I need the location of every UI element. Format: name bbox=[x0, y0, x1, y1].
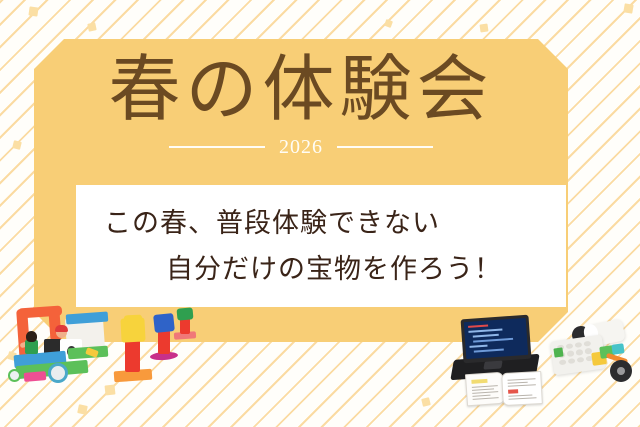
year-row: 2026 bbox=[34, 136, 568, 158]
tower-a-top-icon bbox=[120, 317, 145, 342]
tower-b-column-icon bbox=[158, 330, 170, 354]
year-label: 2026 bbox=[279, 136, 323, 158]
photo-lego-robot-car bbox=[548, 316, 640, 396]
minifigure2-cap-icon bbox=[55, 325, 68, 332]
robot-teal-brick-icon bbox=[611, 343, 624, 355]
page-title: 春の体験会 bbox=[34, 48, 568, 132]
tower-c-top-icon bbox=[177, 307, 194, 320]
confetti-square bbox=[87, 22, 96, 31]
code-line-icon bbox=[468, 325, 488, 328]
book-left-page-icon bbox=[465, 372, 505, 407]
minifigure-head-icon bbox=[26, 331, 37, 342]
lego-wheel-icon bbox=[48, 363, 68, 383]
laptop-screen-icon bbox=[464, 318, 528, 359]
photo-lego-towers bbox=[112, 308, 204, 393]
minifigure-body-icon bbox=[25, 340, 38, 354]
lego-base-pink-icon bbox=[24, 371, 47, 382]
tower-a-column-icon bbox=[125, 340, 140, 372]
code-line-icon bbox=[474, 348, 504, 352]
year-rule-right bbox=[337, 146, 433, 148]
confetti-square bbox=[479, 23, 488, 32]
confetti-square bbox=[77, 404, 88, 415]
code-line-icon bbox=[469, 345, 487, 348]
message-line-2: 自分だけの宝物を作ろう！ bbox=[104, 246, 538, 292]
title-block: 春の体験会 2026 bbox=[34, 48, 568, 158]
tower-a-stud-icon bbox=[124, 315, 142, 322]
confetti-square bbox=[623, 3, 633, 13]
year-rule-left bbox=[169, 146, 265, 148]
confetti-square bbox=[28, 6, 38, 16]
robot-green-tab-icon bbox=[553, 347, 563, 357]
photo-laptop-and-textbook bbox=[448, 317, 558, 407]
code-line-icon bbox=[473, 338, 513, 343]
message-line-1: この春、普段体験できない bbox=[104, 200, 538, 246]
code-line-icon bbox=[468, 329, 502, 333]
tower-b-top-icon bbox=[153, 313, 175, 333]
message-card: この春、普段体験できない 自分だけの宝物を作ろう！ bbox=[76, 185, 566, 307]
robot-wheel-hub-icon bbox=[617, 367, 625, 375]
poster-banner: 春の体験会 2026 この春、普段体験できない 自分だけの宝物を作ろう！ bbox=[0, 0, 640, 427]
book-right-page-icon bbox=[501, 371, 543, 406]
code-line-icon bbox=[473, 334, 499, 338]
lego-wheel-small-icon bbox=[8, 369, 21, 382]
